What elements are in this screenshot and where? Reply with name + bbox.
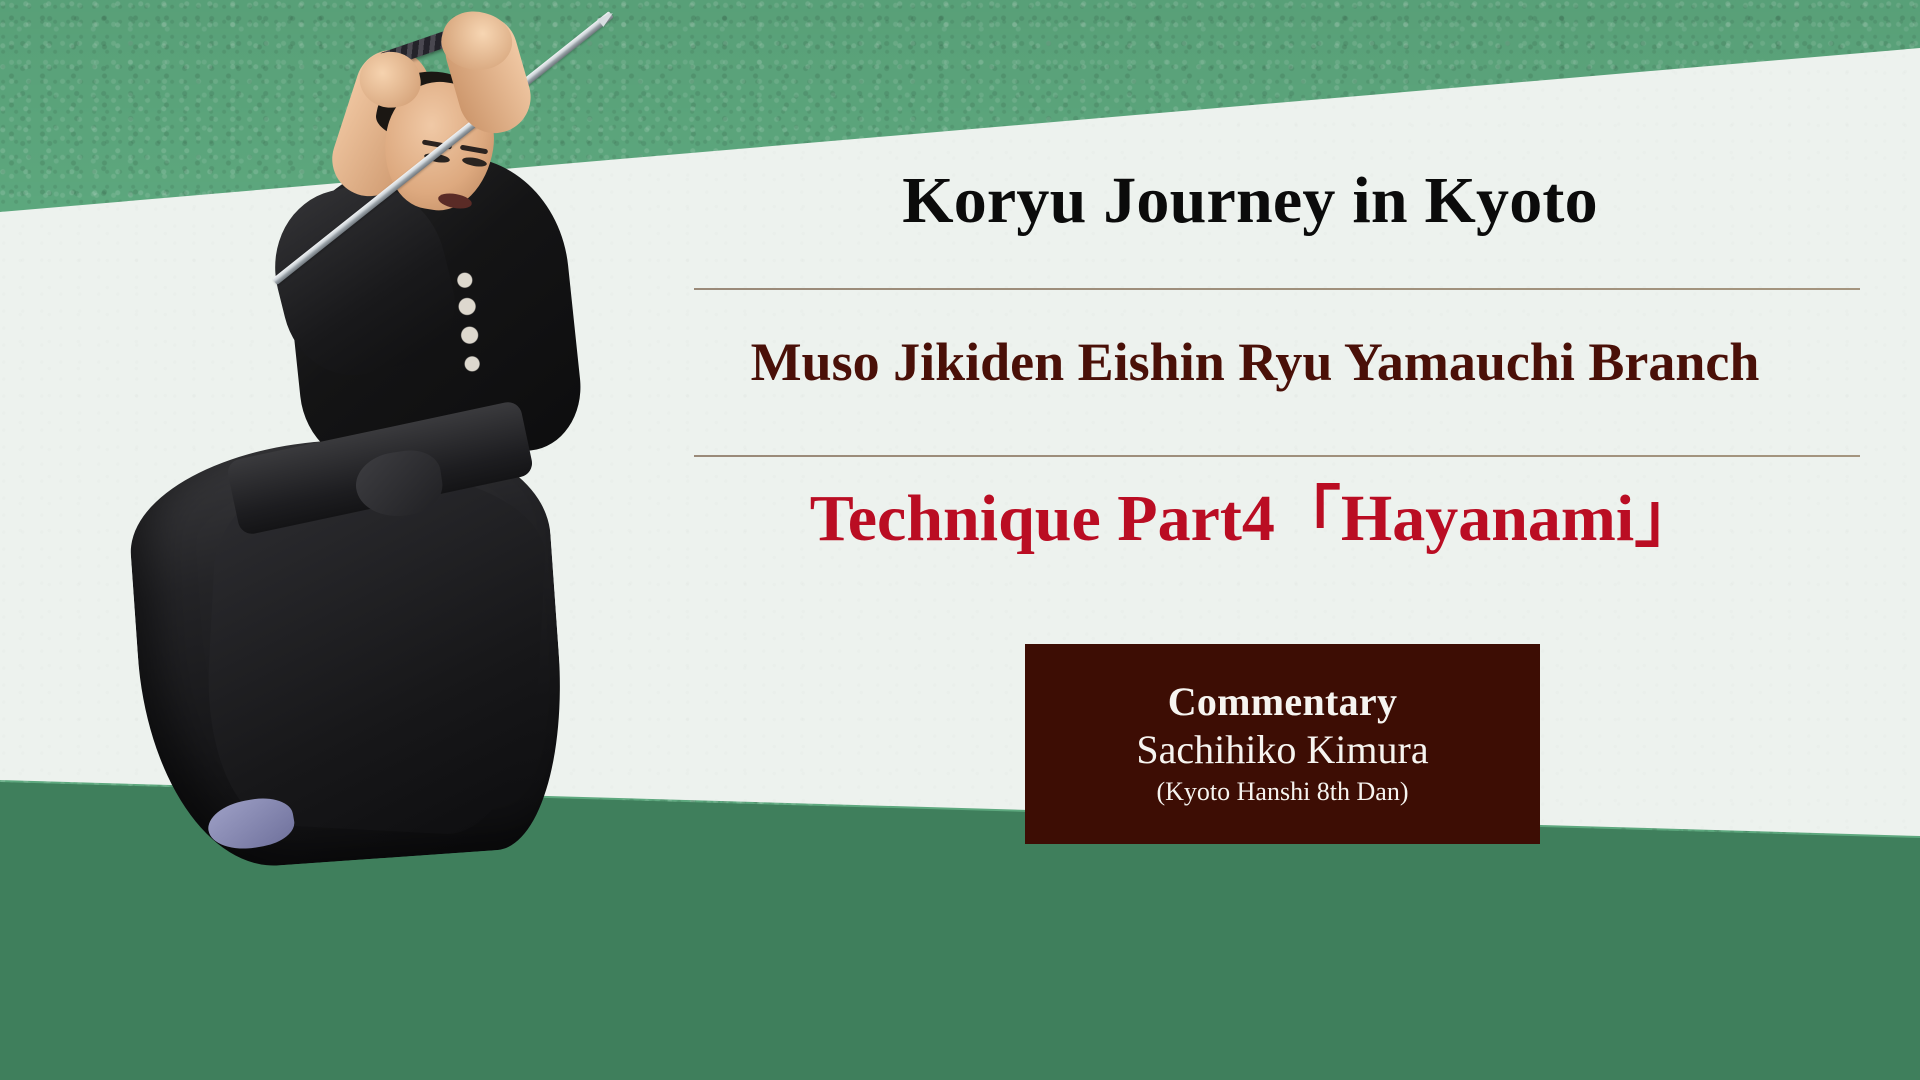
commentary-label: Commentary	[1168, 681, 1398, 723]
title-card: Koryu Journey in Kyoto Muso Jikiden Eish…	[0, 0, 1920, 1080]
commentary-box: Commentary Sachihiko Kimura (Kyoto Hansh…	[1025, 644, 1540, 844]
commentator-name: Sachihiko Kimura	[1136, 727, 1428, 773]
page-title: Koryu Journey in Kyoto	[690, 168, 1810, 234]
technique-heading: Technique Part4「Hayanami」	[690, 486, 1820, 552]
divider-bottom	[694, 455, 1860, 457]
text-block: Koryu Journey in Kyoto Muso Jikiden Eish…	[0, 0, 1920, 1080]
divider-top	[694, 288, 1860, 290]
commentator-rank: (Kyoto Hanshi 8th Dan)	[1156, 776, 1408, 807]
school-subtitle: Muso Jikiden Eishin Ryu Yamauchi Branch	[690, 335, 1820, 389]
